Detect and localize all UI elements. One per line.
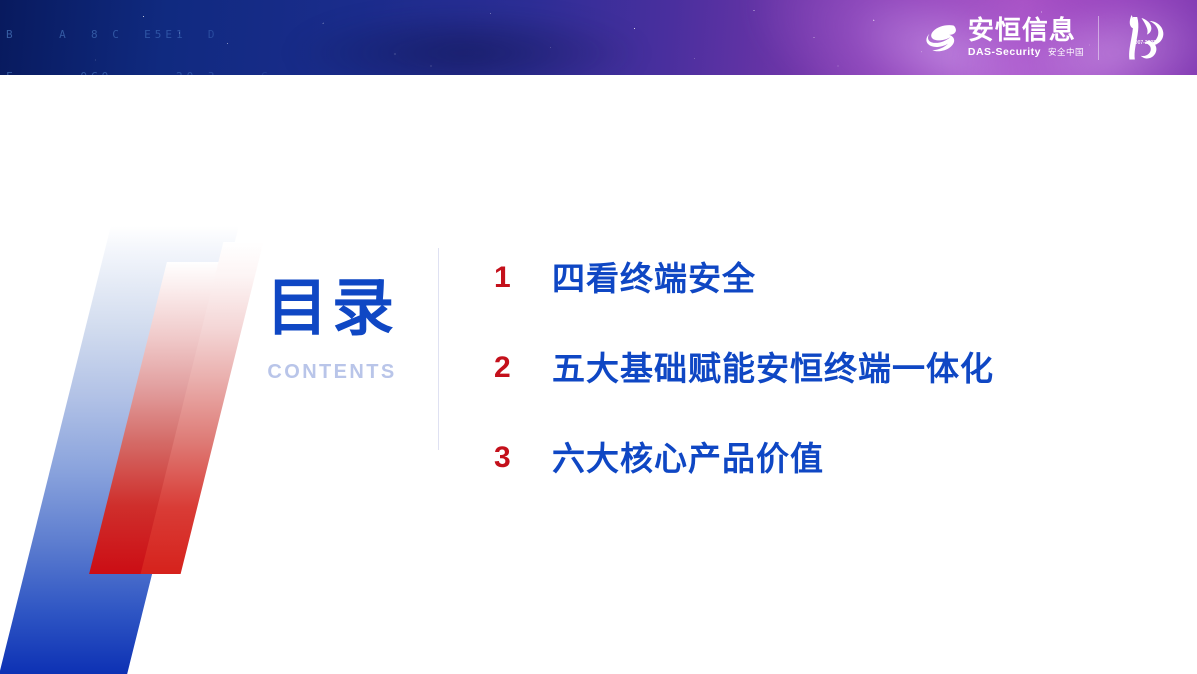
brand-name-en: DAS-Security [968,47,1041,58]
toc-item-3[interactable]: 3 六大核心产品价值 [494,413,1154,503]
presentation-slide: B A 8 C E5E1 D F 0C0 20 3 C 07 3 9 6 B 2… [0,0,1197,674]
page-title: 目录 [232,278,432,340]
hexcode-line: F 0C0 20 3 C [6,70,336,75]
toc-item-number: 3 [494,443,516,473]
brand-name-cn: 安恒信息 [968,17,1084,43]
header-logo-group: 安恒信息 DAS-Security 安全中国 2007-2022 [922,0,1175,75]
brand-tagline: 安全中国 [1048,48,1084,57]
toc-title-block: 目录 CONTENTS [232,278,432,382]
anniversary-15-icon: 2007-2022 [1113,9,1175,67]
toc-item-label: 六大核心产品价值 [552,442,824,475]
vertical-divider [438,248,439,450]
toc-item-label: 五大基础赋能安恒终端一体化 [552,352,994,385]
toc-item-number: 2 [494,353,516,383]
toc-list: 1 四看终端安全 2 五大基础赋能安恒终端一体化 3 六大核心产品价值 [494,233,1154,503]
toc-item-2[interactable]: 2 五大基础赋能安恒终端一体化 [494,323,1154,413]
logo-divider [1098,16,1099,60]
das-security-swoosh-icon [922,18,962,58]
brand-wordmark: 安恒信息 DAS-Security 安全中国 [968,17,1084,58]
anniversary-years-text: 2007-2022 [1132,40,1156,46]
brand-subline: DAS-Security 安全中国 [968,47,1084,58]
ribbon-red-primary [89,262,253,574]
hexcode-line: B A 8 C E5E1 D [6,28,336,42]
ribbon-blue [0,226,239,674]
header-hexcode-texture: B A 8 C E5E1 D F 0C0 20 3 C 07 3 9 6 B 2… [0,0,336,75]
toc-item-number: 1 [494,263,516,293]
company-logo: 安恒信息 DAS-Security 安全中国 [922,17,1084,58]
slide-header-banner: B A 8 C E5E1 D F 0C0 20 3 C 07 3 9 6 B 2… [0,0,1197,75]
page-subtitle: CONTENTS [232,362,432,382]
toc-item-label: 四看终端安全 [552,262,756,295]
toc-item-1[interactable]: 1 四看终端安全 [494,233,1154,323]
